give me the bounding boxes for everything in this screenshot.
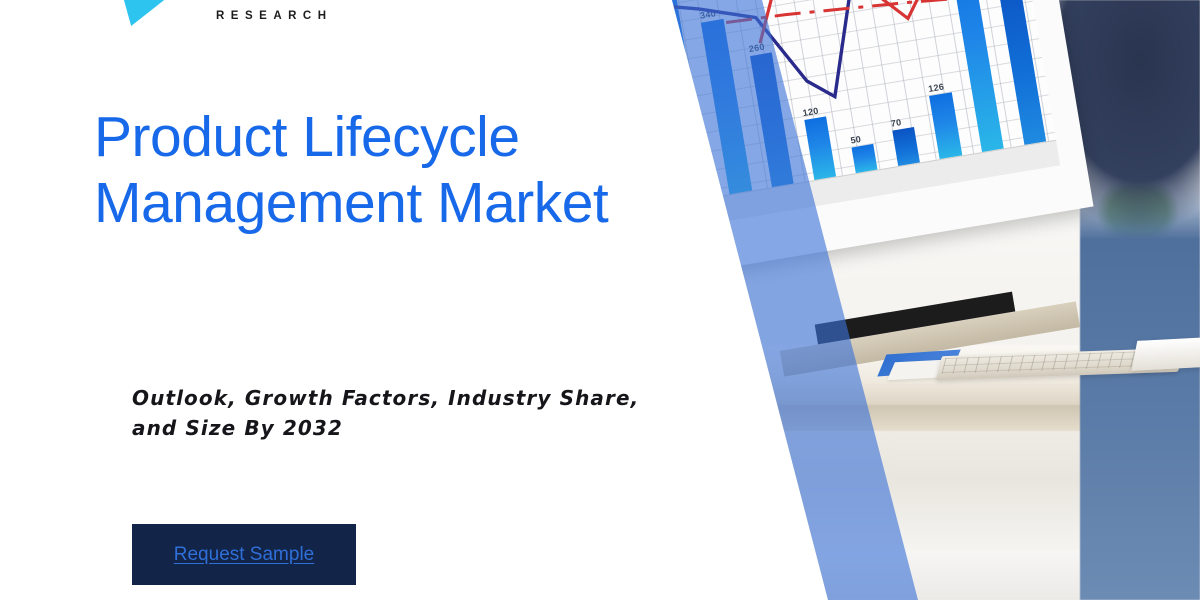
- page-title: Product Lifecycle Management Market: [94, 104, 654, 236]
- request-sample-label: Request Sample: [174, 544, 314, 566]
- triangle-arrow-icon: [120, 0, 182, 26]
- brand-logo[interactable]: RESEARCH: [120, 0, 380, 26]
- page-subtitle: Outlook, Growth Factors, Industry Share,…: [132, 383, 677, 444]
- open-notebook: [1131, 335, 1200, 371]
- request-sample-button[interactable]: Request Sample: [132, 524, 356, 585]
- brand-name: RESEARCH: [216, 10, 333, 26]
- marketing-banner: 440mayjune340july260aug120sep50nov70dec1…: [0, 0, 1200, 600]
